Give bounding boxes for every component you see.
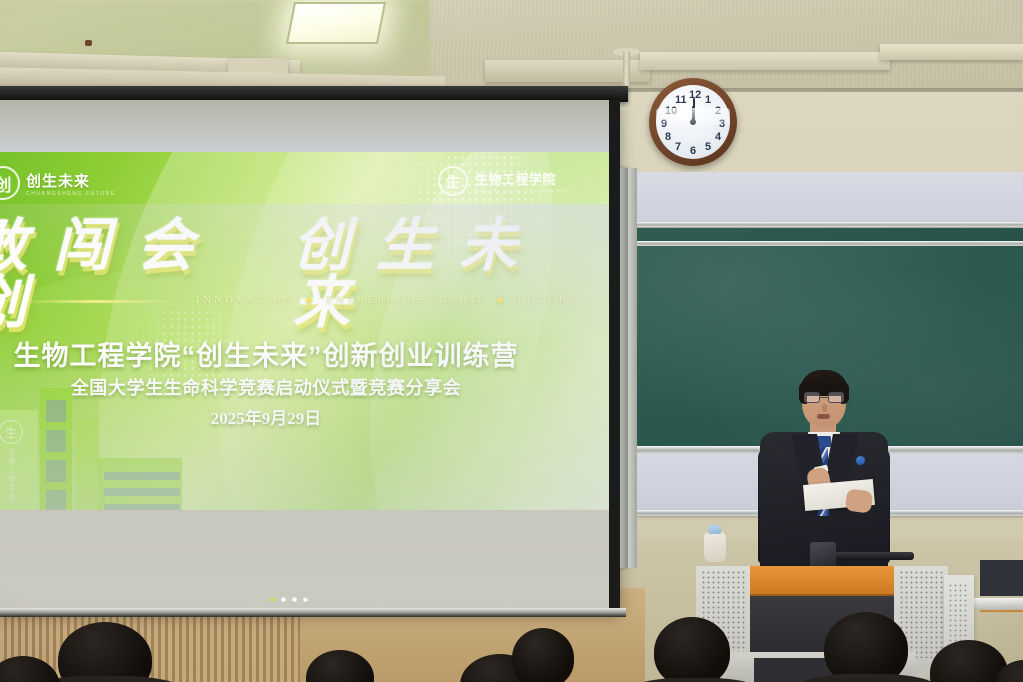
slide-banner-logo-icon: 生	[0, 420, 23, 444]
clock-number-5: 5	[705, 141, 711, 153]
eyeglass-lens	[828, 392, 844, 403]
chuangsheng-logo-icon: 创	[0, 166, 20, 200]
eyeglasses-icon	[804, 392, 844, 403]
slide-logo-right: 生 生物工程学院 SCHOOL OF BIOTECHNOLOGY	[438, 166, 569, 196]
lapel-pin-icon	[856, 456, 865, 465]
slide-banner-text: 生物工程学院	[6, 448, 18, 502]
clock-number-1: 1	[705, 94, 711, 106]
wall-light-rail	[970, 598, 1023, 610]
slide-headline: 敢 闯 会 创 创 生 未 来	[0, 218, 570, 332]
ceiling-beam	[640, 52, 890, 70]
tagline-word-innovation: INNOVATION	[196, 294, 295, 306]
audience-head	[512, 628, 574, 682]
podium-microphone-icon	[810, 542, 836, 568]
clock-number-7: 7	[675, 141, 681, 153]
headline-right: 创 生 未 来	[293, 218, 570, 332]
audience-head	[824, 612, 908, 682]
presentation-slide: 创 创生未来 CHUANGSHENG FUTURE 生 生物工程学院 SCHOO…	[0, 152, 609, 510]
slide-building-graphic	[76, 420, 98, 510]
speaker-nose	[822, 404, 827, 412]
slide-logo-left: 创 创生未来 CHUANGSHENG FUTURE	[0, 166, 116, 200]
building-window	[46, 490, 66, 510]
clock-number-8: 8	[665, 131, 671, 143]
podium	[696, 556, 948, 682]
projection-screen: 创 创生未来 CHUANGSHENG FUTURE 生 生物工程学院 SCHOO…	[0, 100, 620, 612]
screen-blank-top	[0, 100, 609, 155]
speaker-mouth	[817, 414, 830, 419]
blackboard-vertical-rail	[628, 168, 637, 568]
audience-head	[654, 617, 730, 682]
logo-right-name-en: SCHOOL OF BIOTECHNOLOGY	[475, 188, 569, 193]
ceiling-beam	[880, 44, 1023, 60]
logo-left-name-cn: 创生未来	[26, 170, 116, 191]
logo-left-name-en: CHUANGSHENG FUTURE	[26, 191, 116, 197]
clock-glass-glare	[656, 108, 730, 125]
blackboard-upper-panel	[636, 172, 1023, 224]
podium-microphone-arm	[826, 552, 914, 560]
wall-dark-panel	[980, 560, 1023, 596]
clock-number-6: 6	[690, 145, 696, 157]
building-window	[46, 430, 66, 452]
bottle-cap	[708, 525, 721, 534]
slide-building-graphic	[98, 458, 182, 510]
eyeglass-lens	[804, 392, 820, 403]
school-logo-icon: 生	[438, 166, 468, 196]
slide-title: 生物工程学院“创生未来”创新创业训练营	[0, 334, 566, 373]
blackboard-surface-strip	[636, 228, 1023, 242]
clock-number-4: 4	[715, 131, 721, 143]
logo-right-name-cn: 生物工程学院	[475, 169, 569, 188]
building-window-band	[104, 472, 180, 480]
tagline-separator: ◆	[305, 295, 316, 306]
eyeglass-bridge	[820, 397, 828, 398]
blackboard-rail	[636, 222, 1023, 227]
tagline-separator: ◆	[497, 295, 508, 306]
clock-number-11: 11	[675, 94, 687, 106]
podium-desktop	[750, 566, 894, 596]
clock-mount-nub	[85, 40, 92, 46]
water-bottle	[704, 532, 726, 562]
tagline-word-entrepreneurship: ENTREPRENEURSHIP	[326, 294, 487, 306]
recessed-ceiling-light-icon	[286, 2, 386, 44]
halftone-globe-graphic-green	[234, 572, 276, 612]
lecture-hall-photo: 12 1 2 3 4 5 6 7 8 9 10 11	[0, 0, 1023, 682]
projector-screen-bottom-bar	[0, 608, 626, 617]
slide-subtitle: 全国大学生生命科学竞赛启动仪式暨竞赛分享会	[0, 374, 566, 400]
speaker-right-hand	[845, 488, 874, 513]
headline-left: 敢 闯 会 创	[0, 218, 247, 332]
building-window	[46, 460, 66, 482]
slide-english-tagline: INNOVATION ◆ ENTREPRENEURSHIP ◆ FUTURE	[196, 294, 596, 306]
building-window-band	[104, 488, 180, 496]
building-window	[46, 400, 66, 422]
wall-clock: 12 1 2 3 4 5 6 7 8 9 10 11	[649, 78, 737, 166]
tagline-word-future: FUTURE	[517, 294, 579, 306]
clock-number-12: 12	[689, 89, 701, 101]
headline-underline	[22, 300, 172, 303]
